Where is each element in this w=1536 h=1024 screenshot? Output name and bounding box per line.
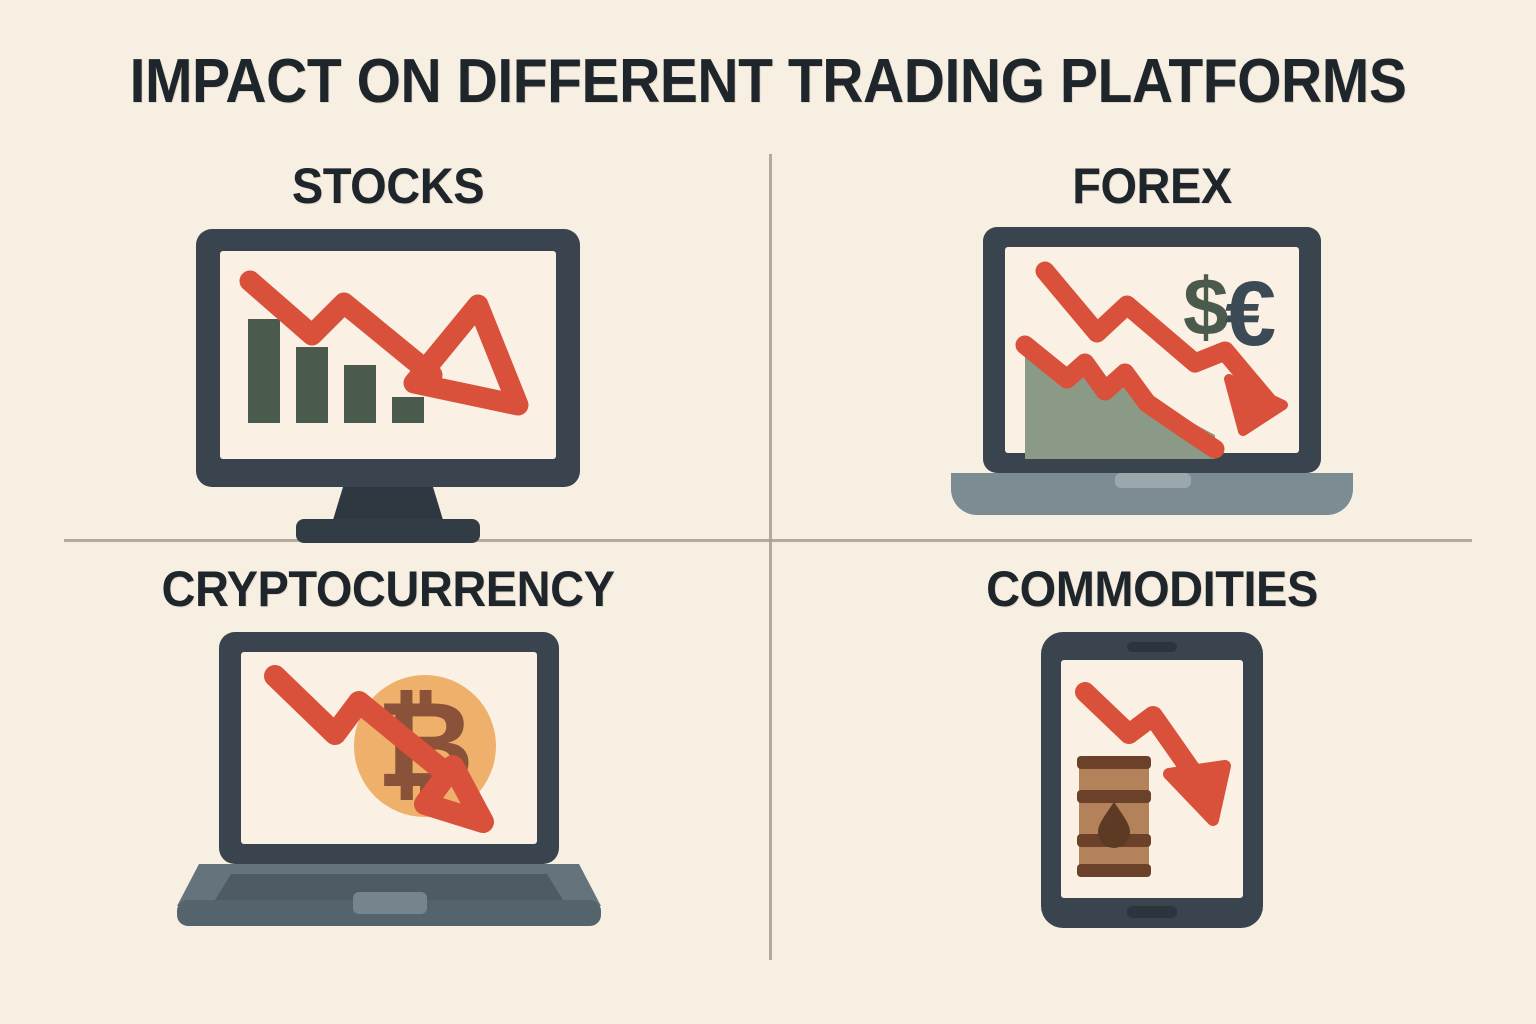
bar-1 [248, 319, 280, 423]
infographic-canvas: IMPACT ON DIFFERENT TRADING PLATFORMS ST… [0, 0, 1536, 1024]
quadrant-stocks: STOCKS [8, 145, 768, 615]
laptop-icon: $ € [937, 223, 1367, 523]
monitor-stand-base [296, 519, 480, 543]
oil-barrel-icon [1077, 756, 1151, 877]
quadrant-forex: FOREX $ € [772, 145, 1532, 615]
euro-sign-icon: € [1225, 263, 1276, 365]
bar-2 [296, 347, 328, 423]
bar-4 [392, 397, 424, 423]
dollar-sign-icon: $ [1183, 262, 1229, 353]
tablet-icon [1017, 626, 1287, 936]
tablet-home-button [1127, 906, 1177, 918]
tablet-speaker [1127, 642, 1177, 652]
laptop-trackpad-notch [353, 892, 427, 914]
quadrant-label-forex: FOREX [795, 157, 1509, 215]
desktop-monitor-icon [188, 223, 588, 543]
barrel-band-top [1077, 756, 1151, 769]
quadrant-label-stocks: STOCKS [31, 157, 745, 215]
laptop-icon: ₿ [163, 626, 613, 936]
quadrant-label-cryptocurrency: CRYPTOCURRENCY [31, 560, 745, 618]
bar-3 [344, 365, 376, 423]
laptop-trackpad-notch [1115, 473, 1191, 488]
cryptocurrency-illustration: ₿ [8, 626, 768, 1016]
barrel-band-mid [1077, 790, 1151, 803]
quadrant-commodities: COMMODITIES [772, 548, 1532, 1018]
quadrant-label-commodities: COMMODITIES [795, 560, 1509, 618]
commodities-illustration [772, 626, 1532, 1016]
quadrant-cryptocurrency: CRYPTOCURRENCY ₿ [8, 548, 768, 1018]
page-title: IMPACT ON DIFFERENT TRADING PLATFORMS [61, 46, 1474, 117]
barrel-band-bottom [1077, 864, 1151, 877]
